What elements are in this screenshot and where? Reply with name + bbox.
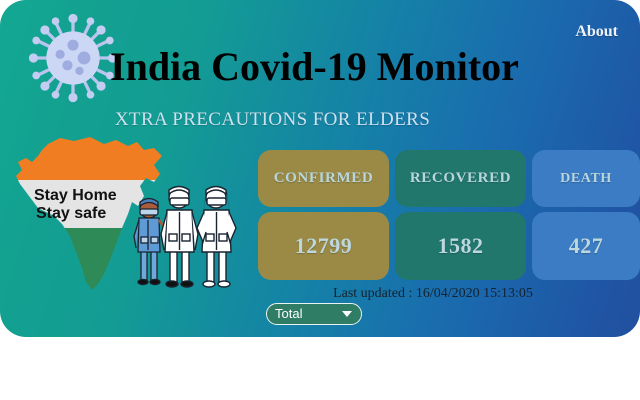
confirmed-value: 12799 (295, 233, 353, 259)
confirmed-label: CONFIRMED (274, 170, 374, 187)
recovered-value-box: 1582 (395, 212, 526, 280)
stat-card-recovered: RECOVERED 1582 (395, 150, 526, 280)
confirmed-label-box: CONFIRMED (258, 150, 389, 207)
stat-card-confirmed: CONFIRMED 12799 (258, 150, 389, 280)
stat-card-death: DEATH 427 (532, 150, 640, 280)
recovered-value: 1582 (438, 233, 484, 259)
coronavirus-icon (27, 12, 119, 104)
death-label-box: DEATH (532, 150, 640, 207)
stats-cards-group: CONFIRMED 12799 RECOVERED 1582 DEATH (258, 150, 640, 280)
main-gradient-panel: India Covid-19 Monitor About XTRA PRECAU… (0, 0, 640, 337)
death-value-box: 427 (532, 212, 640, 280)
death-value: 427 (569, 233, 604, 259)
stay-home-illustration: Stay Home Stay safe (4, 132, 252, 302)
recovered-label: RECOVERED (410, 170, 511, 187)
subtitle-banner: XTRA PRECAUTIONS FOR ELDERS (0, 109, 545, 131)
death-label: DEATH (560, 171, 612, 187)
page-header: India Covid-19 Monitor About (0, 0, 640, 105)
recovered-label-box: RECOVERED (395, 150, 526, 207)
family-wearing-masks-icon (134, 187, 236, 288)
page-title: India Covid-19 Monitor (110, 44, 519, 90)
covid-monitor-app: India Covid-19 Monitor About XTRA PRECAU… (0, 0, 640, 400)
last-updated-text: Last updated : 16/04/2020 15:13:05 (258, 286, 608, 302)
about-link[interactable]: About (575, 23, 618, 41)
map-text-line-1: Stay Home (34, 187, 117, 204)
confirmed-value-box: 12799 (258, 212, 389, 280)
map-text-line-2: Stay safe (36, 205, 106, 222)
region-select[interactable]: Total (266, 303, 362, 325)
